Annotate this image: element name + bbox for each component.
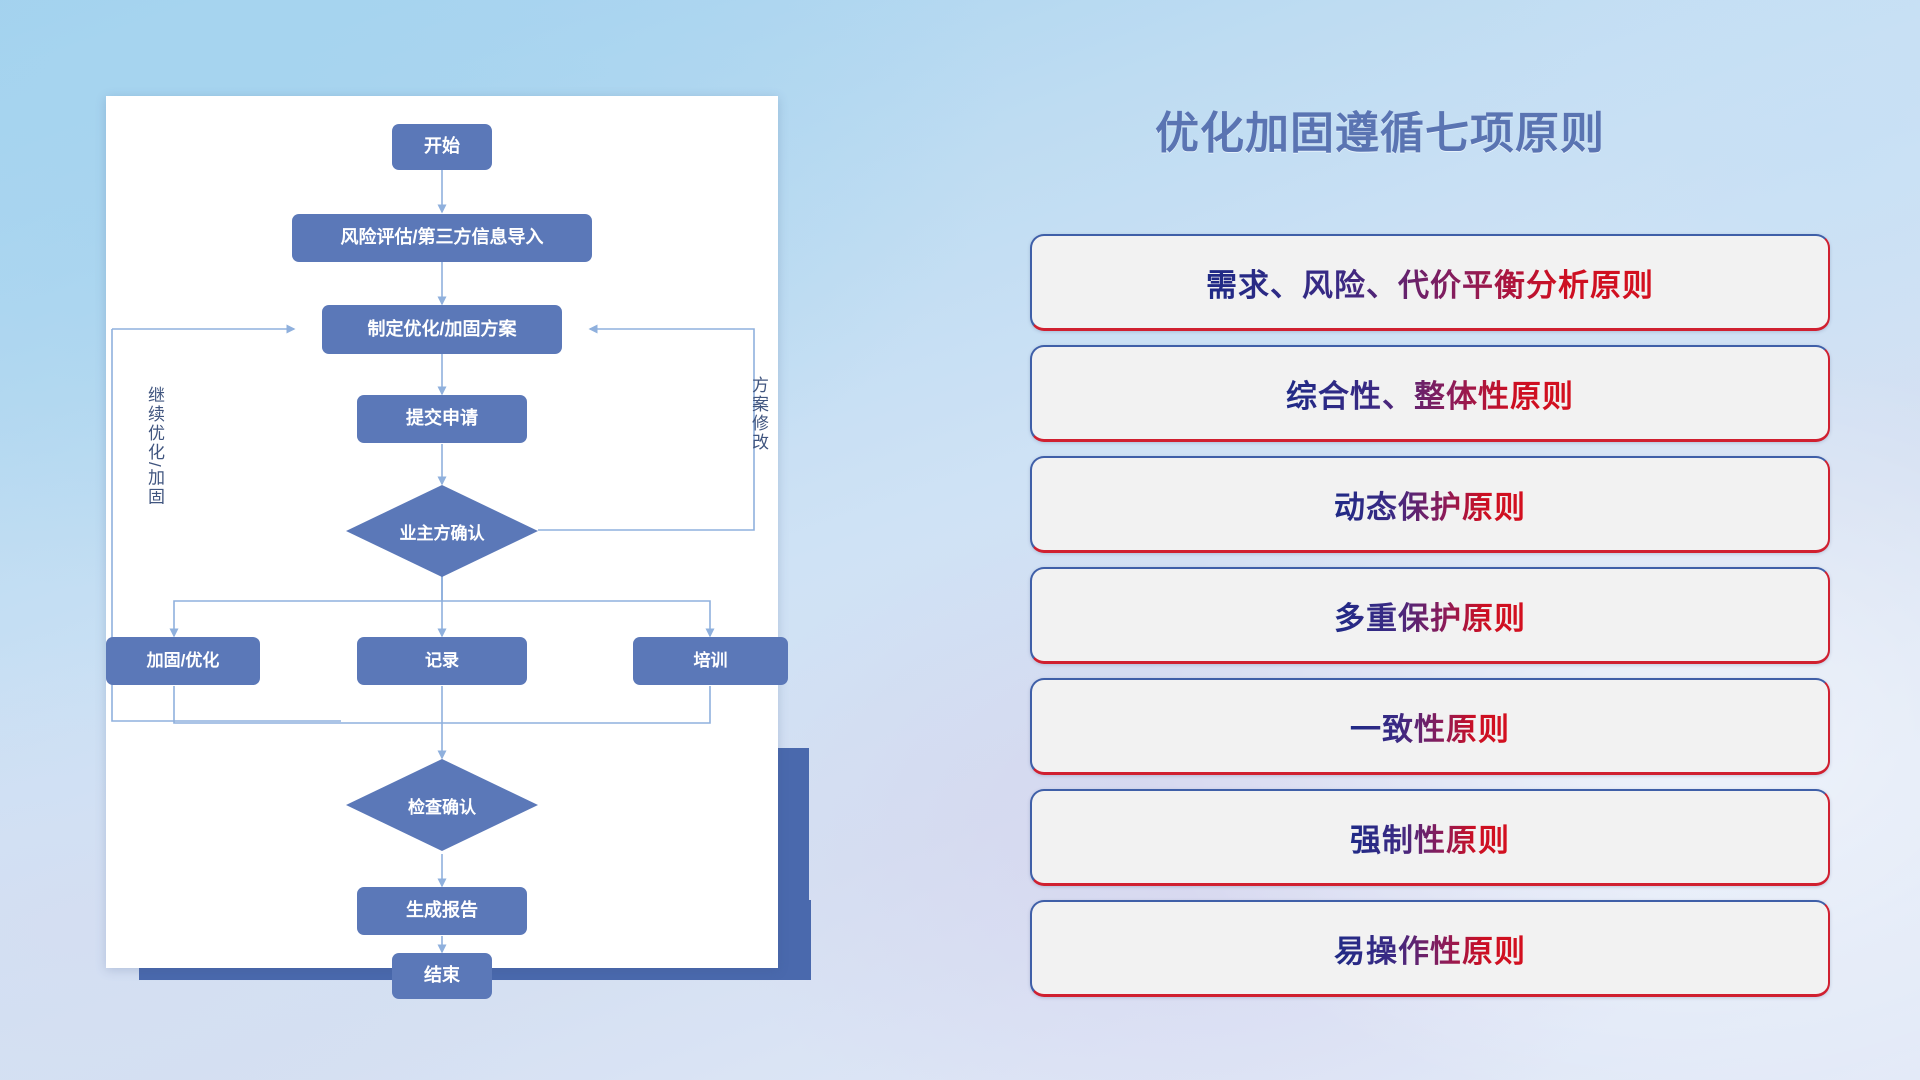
principle-label: 多重保护原则 [1334,593,1526,638]
flow-node-generate-report[interactable]: 生成报告 [357,887,527,935]
flow-node-record[interactable]: 记录 [357,637,527,685]
principle-label: 动态保护原则 [1334,482,1526,527]
principle-item-2[interactable]: 综合性、整体性原则 [1030,345,1830,442]
principle-item-6[interactable]: 强制性原则 [1030,789,1830,886]
flow-node-start[interactable]: 开始 [392,124,492,170]
flow-node-training[interactable]: 培训 [633,637,788,685]
flow-node-end[interactable]: 结束 [392,953,492,999]
flow-node-risk-assessment[interactable]: 风险评估/第三方信息导入 [292,214,592,262]
flow-node-submit-application[interactable]: 提交申请 [357,395,527,443]
edge-label-left-loop: 继续优化/加固 [142,386,167,566]
principle-item-3[interactable]: 动态保护原则 [1030,456,1830,553]
principle-label: 综合性、整体性原则 [1286,371,1574,416]
flowchart-card: 继续优化/加固 方案修改 开始 风险评估/第三方信息导入 制定优化/加固方案 提… [106,96,778,968]
principle-item-7[interactable]: 易操作性原则 [1030,900,1830,997]
principle-item-1[interactable]: 需求、风险、代价平衡分析原则 [1030,234,1830,331]
principle-label: 易操作性原则 [1334,926,1526,971]
panel-title: 优化加固遵循七项原则 [1155,97,1605,161]
principle-label: 强制性原则 [1350,815,1510,860]
principles-panel: 优化加固遵循七项原则 需求、风险、代价平衡分析原则 综合性、整体性原则 动态保护… [1010,0,1920,1080]
flow-node-make-plan[interactable]: 制定优化/加固方案 [322,305,562,354]
principle-label: 一致性原则 [1350,704,1510,749]
principle-label: 需求、风险、代价平衡分析原则 [1206,260,1654,305]
principle-item-4[interactable]: 多重保护原则 [1030,567,1830,664]
flow-node-reinforce-optimize[interactable]: 加固/优化 [106,637,260,685]
edge-label-right-loop: 方案修改 [746,376,771,526]
principle-item-5[interactable]: 一致性原则 [1030,678,1830,775]
